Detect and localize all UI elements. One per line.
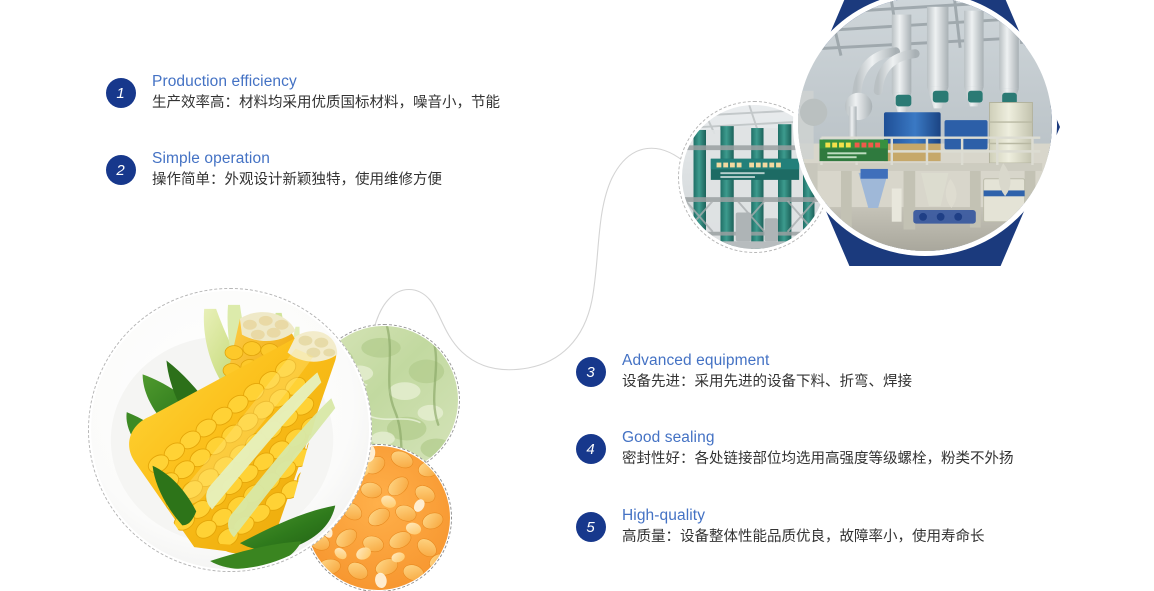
feature-number-badge: 3 <box>576 357 606 387</box>
feature-title-zh: 生产效率高：材料均采用优质国标材料，噪音小，节能 <box>152 92 500 114</box>
feature-text-block: Advanced equipment 设备先进：采用先进的设备下料、折弯、焊接 <box>622 351 912 393</box>
feature-item-5[interactable]: 5 High-quality 高质量：设备整体性能品质优良，故障率小，使用寿命长 <box>576 512 985 548</box>
top-right-media-cluster <box>660 0 1154 280</box>
feature-item-1[interactable]: 1 Production efficiency 生产效率高：材料均采用优质国标材… <box>106 78 500 114</box>
bottom-left-media-cluster <box>86 286 466 591</box>
flour-milling-plant-photo <box>793 0 1057 256</box>
feature-number-badge: 2 <box>106 155 136 185</box>
feature-title-en: Production efficiency <box>152 72 500 92</box>
feature-text-block: Production efficiency 生产效率高：材料均采用优质国标材料，… <box>152 72 500 114</box>
feature-item-3[interactable]: 3 Advanced equipment 设备先进：采用先进的设备下料、折弯、焊… <box>576 357 912 393</box>
feature-title-zh: 设备先进：采用先进的设备下料、折弯、焊接 <box>622 371 912 393</box>
feature-title-zh: 高质量：设备整体性能品质优良，故障率小，使用寿命长 <box>622 526 985 548</box>
feature-number-badge: 4 <box>576 434 606 464</box>
feature-title-zh: 密封性好：各处链接部位均选用高强度等级螺栓，粉类不外扬 <box>622 448 1014 470</box>
feature-number-badge: 1 <box>106 78 136 108</box>
infographic-canvas: 1 Production efficiency 生产效率高：材料均采用优质国标材… <box>0 0 1154 591</box>
feature-item-2[interactable]: 2 Simple operation 操作简单：外观设计新颖独特，使用维修方便 <box>106 155 442 191</box>
feature-text-block: Good sealing 密封性好：各处链接部位均选用高强度等级螺栓，粉类不外扬 <box>622 428 1014 470</box>
fresh-corn-cob-photo <box>88 288 372 572</box>
feature-title-zh: 操作简单：外观设计新颖独特，使用维修方便 <box>152 169 442 191</box>
feature-number-badge: 5 <box>576 512 606 542</box>
feature-title-en: High-quality <box>622 506 985 526</box>
feature-title-en: Advanced equipment <box>622 351 912 371</box>
feature-item-4[interactable]: 4 Good sealing 密封性好：各处链接部位均选用高强度等级螺栓，粉类不… <box>576 434 1014 470</box>
feature-title-en: Simple operation <box>152 149 442 169</box>
feature-text-block: High-quality 高质量：设备整体性能品质优良，故障率小，使用寿命长 <box>622 506 985 548</box>
feature-title-en: Good sealing <box>622 428 1014 448</box>
feature-text-block: Simple operation 操作简单：外观设计新颖独特，使用维修方便 <box>152 149 442 191</box>
